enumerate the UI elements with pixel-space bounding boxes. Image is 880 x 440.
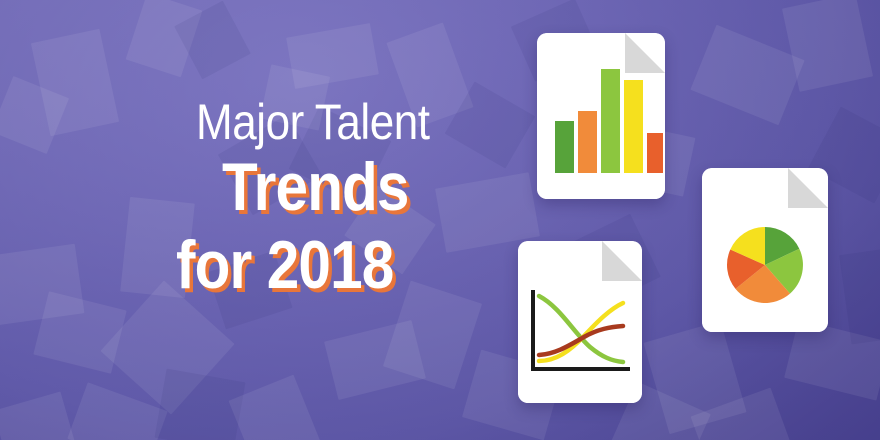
headline-line-1: Major Talent [196,96,460,148]
bar-3 [601,69,620,173]
document-bar-chart-icon [537,33,665,199]
bar-4 [624,80,643,173]
headline-line-3: for 2018 [176,230,451,300]
headline-line-2: Trends [222,152,458,222]
bar-chart-document [537,33,665,199]
banner-graphic: Major Talent Trends for 2018 [0,0,880,440]
headline-block: Major Talent Trends for 2018 [196,96,496,300]
pie-chart-document [702,168,828,332]
confetti-shape [839,246,880,345]
bar-1 [555,121,574,173]
document-pie-chart-icon [702,168,828,332]
confetti-shape [690,25,804,125]
confetti-shape [0,392,77,440]
bar-5 [647,133,663,173]
line-chart-document [518,241,642,403]
bar-2 [578,111,597,173]
pie-series [727,227,803,303]
document-line-chart-icon [518,241,642,403]
